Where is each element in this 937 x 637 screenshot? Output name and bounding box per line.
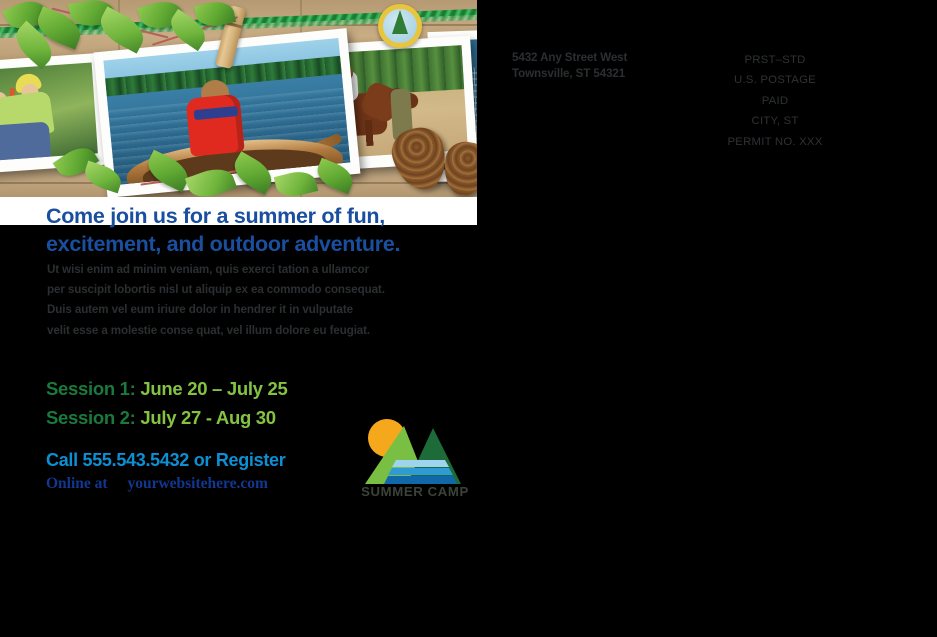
body-paragraph: Ut wisi enim ad minim veniam, quis exerc… — [47, 260, 477, 341]
indicia-line: CITY, ST — [690, 111, 860, 131]
call-to-action-phone[interactable]: Call 555.543.5432 or Register — [46, 450, 285, 471]
session-dates-list: Session 1: June 20 – July 25 Session 2: … — [46, 375, 288, 432]
online-prefix: Online at — [46, 475, 108, 492]
postcard-canvas: Come join us for a summer of fun, excite… — [0, 0, 937, 637]
water-stripe-dark — [384, 476, 457, 484]
website-url[interactable]: yourwebsitehere.com — [127, 475, 267, 492]
page-title: Come join us for a summer of fun, excite… — [46, 202, 486, 258]
session-label: Session 1: — [46, 378, 136, 399]
headline-line-1: Come join us for a summer of fun, — [46, 202, 486, 230]
indicia-line: U.S. POSTAGE — [690, 70, 860, 90]
session-label: Session 2: — [46, 407, 136, 428]
address-line: 5432 Any Street West — [512, 50, 627, 66]
indicia-line: PRST–STD — [690, 50, 860, 70]
indicia-line: PERMIT NO. XXX — [690, 132, 860, 152]
logo-mark-icon — [349, 414, 481, 488]
headline-line-2: excitement, and outdoor adventure. — [46, 230, 486, 258]
session-row: Session 1: June 20 – July 25 — [46, 375, 288, 404]
indicia-line: PAID — [690, 91, 860, 111]
camp-badge-icon — [378, 4, 422, 48]
photo-collage-banner — [0, 0, 477, 197]
logo-wordmark: SUMMER CAMP — [349, 484, 481, 499]
paragraph-line: Duis autem vel eum iriure dolor in hendr… — [47, 300, 477, 320]
session-row: Session 2: July 27 - Aug 30 — [46, 404, 288, 433]
register-online-line: Online at yourwebsitehere.com — [46, 475, 268, 493]
summer-camp-logo: SUMMER CAMP — [349, 414, 481, 502]
water-stripe-light — [392, 460, 449, 467]
session-dates: July 27 - Aug 30 — [140, 407, 275, 428]
postage-indicia-block: PRST–STD U.S. POSTAGE PAID CITY, ST PERM… — [690, 50, 860, 152]
mailing-address-block: 5432 Any Street West Townsville, ST 5432… — [512, 50, 627, 81]
address-line: Townsville, ST 54321 — [512, 66, 627, 82]
water-stripe-mid — [388, 468, 453, 475]
session-dates: June 20 – July 25 — [140, 378, 287, 399]
paragraph-line: Ut wisi enim ad minim veniam, quis exerc… — [47, 260, 477, 280]
paragraph-line: velit esse a molestie conse quat, vel il… — [47, 321, 477, 341]
paragraph-line: per suscipit lobortis nisl ut aliquip ex… — [47, 280, 477, 300]
